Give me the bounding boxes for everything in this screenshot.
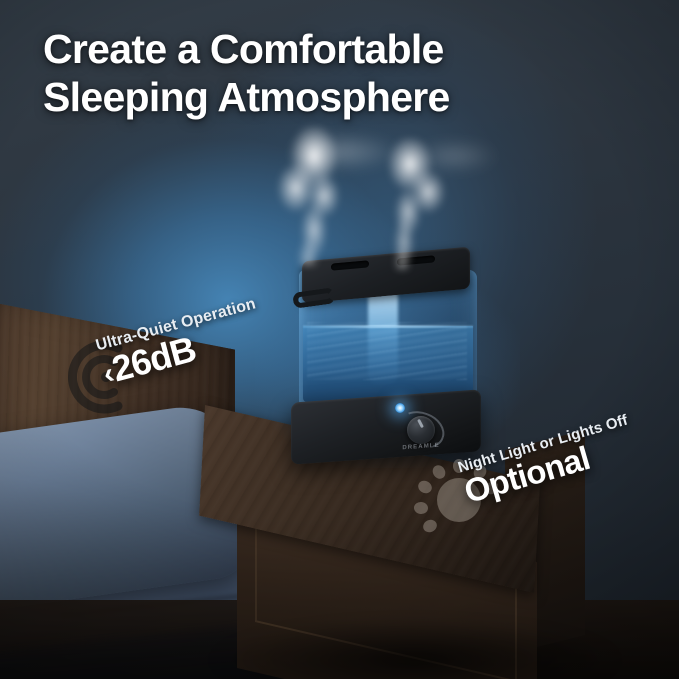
page-title: Create a Comfortable Sleeping Atmosphere [43,26,643,121]
badge-ultra-quiet: Ultra-Quiet Operation ‹26dB [58,332,298,432]
product-marketing-image: DREAMLE Create a Comfortable Sleeping At… [0,0,679,679]
badge-night-light: Night Light or Lights Off Optional [408,448,678,548]
